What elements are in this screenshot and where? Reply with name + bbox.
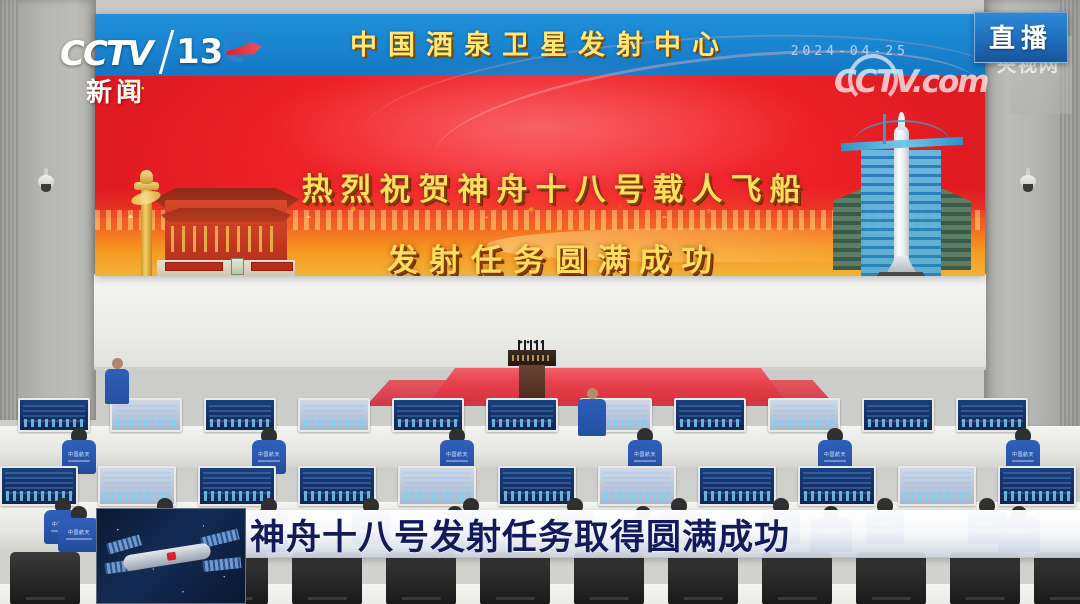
inset-video-space-station [96, 508, 246, 604]
headline-text: 神舟十八号发射任务取得圆满成功 [246, 509, 790, 560]
broadcast-frame: 中国酒泉卫星发射中心 2024-04-25 [0, 0, 1080, 604]
console-monitor[interactable] [298, 398, 370, 432]
uniform-logo: 中国航天 [258, 451, 280, 458]
standing-person [578, 388, 606, 436]
security-camera-icon [38, 168, 54, 194]
cctv13-channel-logo: CCTV 13 新闻 [60, 28, 260, 104]
security-camera-icon [1020, 168, 1036, 194]
tiananmen-portrait [231, 258, 244, 275]
cctv-swirl-icon [220, 30, 264, 72]
star-accent-icon [124, 80, 146, 98]
tiananmen-left-plaque [165, 262, 223, 271]
huabiao-column-icon [131, 170, 161, 276]
operator-chair [668, 552, 738, 604]
uniform-logo: 中国航天 [1012, 451, 1034, 458]
live-badge: 直播 [974, 12, 1068, 63]
banner-headline-line1: 热烈祝贺神舟十八号载人飞船 [245, 164, 865, 209]
console-monitor[interactable] [862, 398, 934, 432]
console-monitor[interactable] [768, 398, 840, 432]
operator-chair [480, 552, 550, 604]
console-operator: 中国航天 [58, 506, 100, 564]
banner-body: 热烈祝贺神舟十八号载人飞船 发射任务圆满成功 [95, 76, 985, 276]
uniform-logo: 中国航天 [824, 451, 846, 458]
banner-headline-line2: 发射任务圆满成功 [245, 235, 865, 276]
channel-number: 13 [176, 32, 223, 72]
podium-plaque [512, 355, 552, 361]
operator-chair [1034, 552, 1080, 604]
operator-chair [292, 552, 362, 604]
console-monitor[interactable] [204, 398, 276, 432]
uniform-logo: 中国航天 [634, 451, 656, 458]
console-monitor[interactable] [18, 398, 90, 432]
banner-headline: 热烈祝贺神舟十八号载人飞船 发射任务圆满成功 [245, 164, 865, 276]
console-monitor[interactable] [956, 398, 1028, 432]
console-monitor[interactable] [674, 398, 746, 432]
uniform-logo: 中国航天 [446, 451, 468, 458]
speaker-podium [508, 340, 556, 398]
console-monitor[interactable] [898, 466, 976, 506]
live-badge-label: 直播 [989, 24, 1053, 54]
lower-third-banner: 神舟十八号发射任务取得圆满成功 [246, 510, 1080, 558]
console-monitor[interactable] [392, 398, 464, 432]
console-desk-row-1 [0, 426, 1080, 468]
uniform-logo: 中国航天 [68, 529, 90, 536]
logo-divider-icon [159, 30, 175, 74]
studio-right-wall [984, 0, 1080, 430]
uniform-logo: 中国航天 [68, 451, 90, 458]
standing-person [104, 358, 130, 404]
operator-chair [856, 552, 926, 604]
console-monitor[interactable] [798, 466, 876, 506]
console-monitor[interactable] [486, 398, 558, 432]
console-monitor[interactable] [998, 466, 1076, 506]
cctv-wordmark: CCTV [60, 34, 151, 74]
